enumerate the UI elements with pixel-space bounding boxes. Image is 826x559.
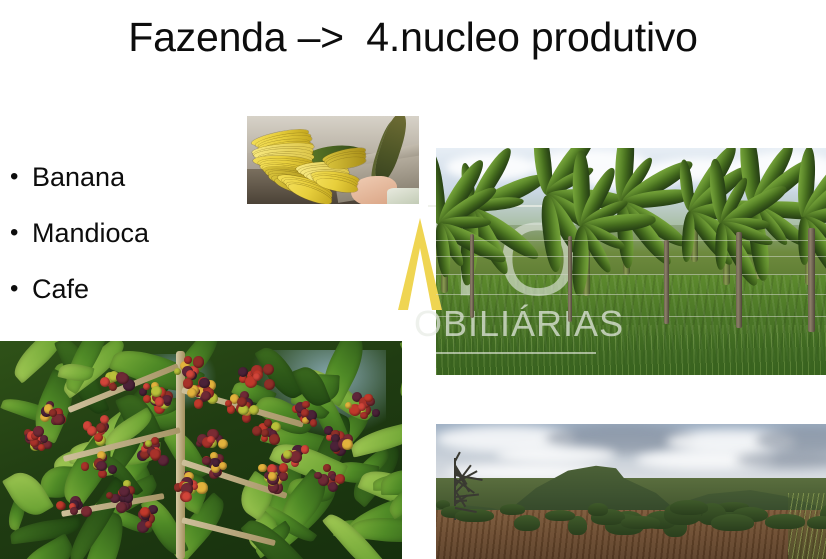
photo-detail	[33, 426, 44, 437]
photo-detail	[436, 274, 826, 275]
photo-detail	[455, 507, 477, 512]
photo-detail	[664, 240, 669, 324]
photo-detail	[70, 507, 78, 515]
photo-detail	[279, 463, 288, 472]
photo-detail	[151, 386, 162, 397]
photo-detail	[372, 409, 380, 417]
photo-detail	[323, 464, 331, 472]
photo-detail	[143, 383, 150, 390]
photo-detail	[808, 228, 815, 332]
photo-detail	[174, 368, 181, 375]
photo-detail	[310, 419, 318, 427]
photo-detail	[108, 465, 117, 474]
page-title: Fazenda –> 4.nucleo produtivo	[0, 12, 826, 62]
image-hill-field-landscape	[436, 424, 826, 559]
photo-detail	[568, 236, 572, 322]
photo-detail	[360, 412, 368, 420]
photo-detail	[436, 316, 826, 317]
photo-detail	[328, 482, 338, 492]
slide-canvas: Fazenda –> 4.nucleo produtivo • Banana •…	[0, 0, 826, 559]
photo-detail	[342, 439, 352, 449]
photo-detail	[364, 394, 372, 402]
photo-detail	[269, 434, 280, 445]
photo-detail	[263, 364, 274, 375]
photo-detail	[436, 294, 826, 295]
photo-detail	[182, 492, 192, 502]
photo-detail	[264, 379, 276, 391]
photo-detail	[116, 502, 127, 513]
image-banana-plantation	[436, 148, 826, 375]
photo-detail	[143, 395, 151, 403]
list-item-label: Banana	[32, 160, 125, 194]
photo-detail	[96, 461, 107, 472]
photo-detail	[96, 423, 106, 433]
photo-detail	[436, 240, 826, 241]
photo-detail	[193, 356, 204, 367]
list-item: • Banana	[6, 160, 236, 216]
photo-tree-branches	[436, 424, 826, 559]
photo-detail	[454, 452, 460, 462]
image-bananas-bunch	[247, 116, 419, 204]
photo-detail	[253, 373, 261, 381]
photo-wire-fence	[436, 148, 826, 375]
photo-detail	[106, 492, 113, 499]
list-item: • Cafe	[6, 272, 236, 328]
photo-coffee-cherries	[0, 341, 402, 559]
list-item-label: Mandioca	[32, 216, 149, 250]
photo-detail	[736, 232, 742, 328]
photo-detail	[81, 462, 89, 470]
photo-detail	[49, 409, 57, 417]
photo-detail	[38, 444, 45, 451]
photo-detail	[117, 373, 128, 384]
photo-detail	[187, 388, 197, 398]
photo-detail	[268, 472, 277, 481]
photo-detail	[155, 397, 164, 406]
list-item: • Mandioca	[6, 216, 236, 272]
photo-detail	[314, 472, 322, 480]
photo-detail	[207, 436, 215, 444]
photo-detail	[218, 439, 228, 449]
photo-detail	[302, 401, 310, 409]
image-coffee-plant	[0, 341, 402, 559]
photo-detail	[194, 399, 203, 408]
photo-detail	[335, 474, 344, 483]
photo-detail	[109, 383, 117, 391]
photo-detail	[264, 419, 272, 427]
photo-detail	[100, 377, 110, 387]
photo-detail	[183, 378, 194, 389]
photo-detail	[279, 472, 288, 481]
photo-detail	[301, 409, 309, 417]
photo-detail	[258, 464, 266, 472]
photo-detail	[301, 445, 309, 453]
photo-detail	[145, 521, 152, 528]
photo-detail	[202, 457, 210, 465]
photo-detail	[199, 378, 209, 388]
photo-detail	[470, 234, 474, 318]
photo-detail	[196, 482, 207, 493]
photo-detail	[436, 256, 826, 257]
list-item-label: Cafe	[32, 272, 89, 306]
bullet-marker-icon: •	[6, 160, 32, 194]
photo-sleeve	[387, 188, 419, 204]
bullet-list: • Banana • Mandioca • Cafe	[6, 160, 236, 328]
photo-detail	[150, 449, 160, 459]
photo-detail	[249, 405, 259, 415]
bullet-marker-icon: •	[6, 272, 32, 306]
photo-detail	[140, 507, 149, 516]
photo-detail	[184, 356, 192, 364]
bullet-marker-icon: •	[6, 216, 32, 250]
photo-detail	[283, 450, 292, 459]
photo-detail	[119, 486, 130, 497]
photo-detail	[219, 462, 227, 470]
photo-detail	[81, 506, 92, 517]
